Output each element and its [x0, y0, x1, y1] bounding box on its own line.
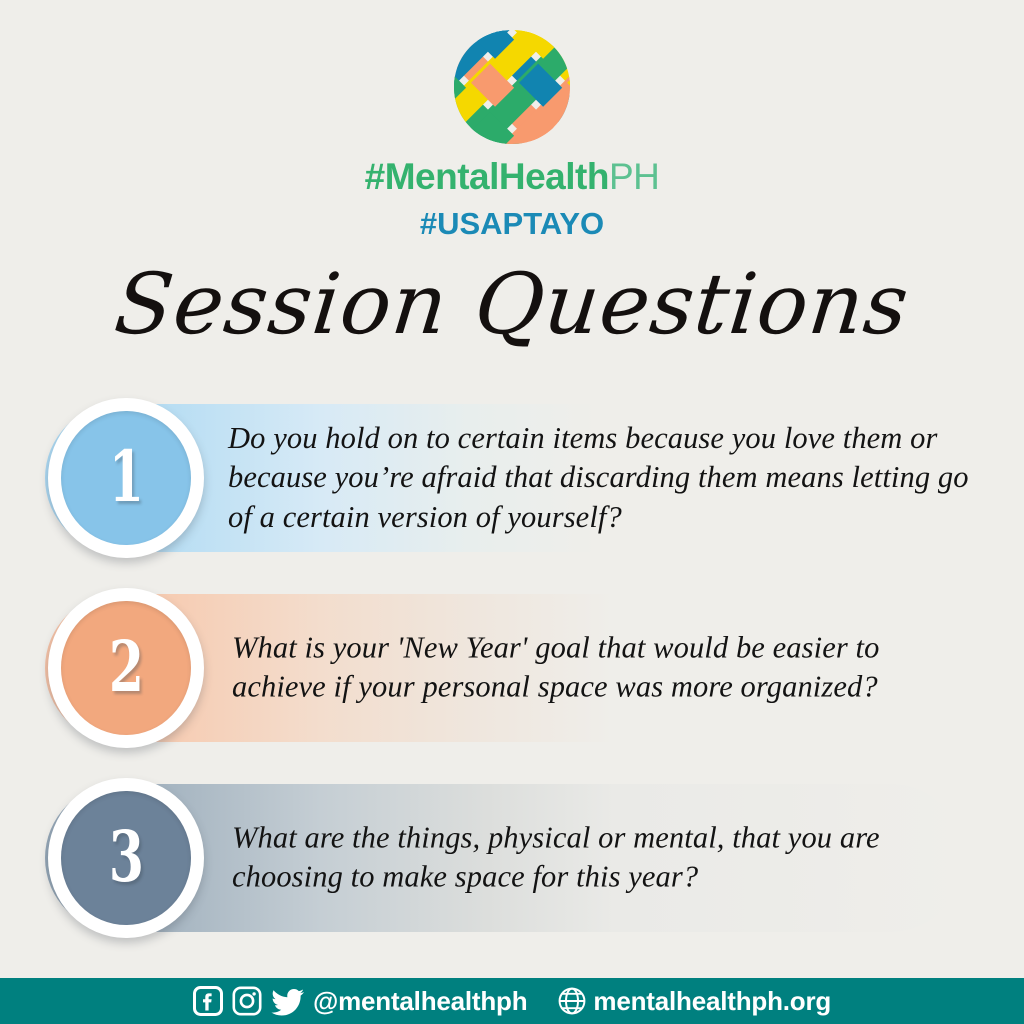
question-number-badge: 1 — [48, 398, 204, 558]
brand-hashtag-bold: #MentalHealth — [365, 156, 609, 197]
woven-logo-icon — [452, 28, 572, 146]
badge-fill: 1 — [61, 411, 191, 545]
brand-header: #MentalHealthPH #USAPTAYO — [0, 0, 1024, 239]
questions-list: 1 Do you hold on to certain items becaus… — [0, 398, 1024, 968]
question-number-badge: 2 — [48, 588, 204, 748]
badge-fill: 2 — [61, 601, 191, 735]
brand-sub-hashtag: #USAPTAYO — [0, 208, 1024, 239]
globe-icon[interactable] — [557, 986, 587, 1016]
mentalhealthph-logo — [452, 0, 572, 146]
twitter-icon[interactable] — [271, 986, 305, 1016]
question-card: 1 Do you hold on to certain items becaus… — [0, 398, 1024, 558]
page-title: Session Questions — [0, 252, 1024, 357]
footer-bar: @mentalhealthph mentalhealthph.org — [0, 978, 1024, 1024]
website-group: mentalhealthph.org — [557, 986, 831, 1016]
social-icons — [193, 986, 305, 1016]
brand-hashtag: #MentalHealthPH — [0, 158, 1024, 195]
question-text: What are the things, physical or mental,… — [232, 819, 976, 898]
badge-fill: 3 — [61, 791, 191, 925]
facebook-icon[interactable] — [193, 986, 223, 1016]
question-number: 1 — [108, 442, 143, 512]
question-card: 3 What are the things, physical or menta… — [0, 778, 1024, 938]
question-card: 2 What is your 'New Year' goal that woul… — [0, 588, 1024, 748]
question-number: 2 — [108, 632, 143, 702]
instagram-icon[interactable] — [232, 986, 262, 1016]
website-url[interactable]: mentalhealthph.org — [593, 988, 831, 1014]
question-number-badge: 3 — [48, 778, 204, 938]
question-number: 3 — [108, 822, 143, 892]
social-group: @mentalhealthph — [193, 986, 527, 1016]
brand-hashtag-light: PH — [609, 156, 659, 197]
question-text: Do you hold on to certain items because … — [228, 419, 972, 537]
social-handle[interactable]: @mentalhealthph — [313, 988, 527, 1014]
question-text: What is your 'New Year' goal that would … — [232, 629, 976, 708]
